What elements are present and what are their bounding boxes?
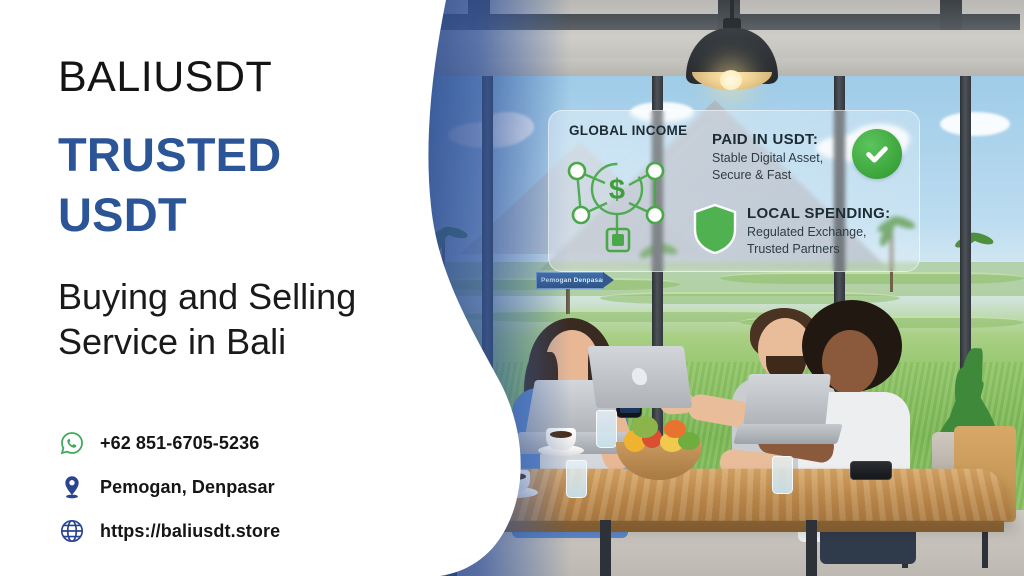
smartphone-on-table — [850, 461, 892, 480]
brand-name: BALIUSDT — [58, 55, 272, 100]
subheadline: Buying and Selling Service in Bali — [58, 274, 356, 365]
table-edge — [420, 520, 1004, 532]
headline: TRUSTED USDT — [58, 125, 281, 245]
local-spending-body: Regulated Exchange, Trusted Partners — [747, 224, 867, 257]
signpost-label: Pemogan Denpasar — [541, 277, 605, 284]
signpost: Pemogan Denpasar — [536, 272, 614, 292]
globe-icon — [58, 517, 86, 545]
svg-text:$: $ — [609, 174, 625, 206]
ceiling-beam — [468, 0, 490, 30]
subheadline-line-1: Buying and Selling — [58, 274, 356, 319]
left-text-column: BALIUSDT TRUSTED USDT Buying and Selling… — [58, 0, 458, 576]
shield-icon — [692, 203, 738, 255]
window-mullion — [482, 66, 493, 518]
lamp-bulb — [720, 70, 742, 90]
local-spending-title: LOCAL SPENDING: — [747, 205, 890, 222]
scene-illustration: Pemogan Denpasar — [420, 0, 1024, 576]
paid-in-usdt-title: PAID IN USDT: — [712, 131, 818, 148]
whatsapp-icon — [58, 429, 86, 457]
global-income-label: GLOBAL INCOME — [569, 123, 687, 138]
water-glass — [566, 460, 587, 498]
laptop-middle-keyboard — [733, 424, 843, 444]
signpost-plate: Pemogan Denpasar — [536, 272, 604, 289]
signpost-pole — [566, 288, 570, 314]
check-circle-icon — [852, 129, 902, 179]
glass-info-panel: GLOBAL INCOME — [548, 110, 920, 272]
location-pin-icon — [58, 473, 86, 501]
paid-in-usdt-body: Stable Digital Asset, Secure & Fast — [712, 150, 823, 183]
marketing-banner: Pemogan Denpasar — [0, 0, 1024, 576]
contact-row-whatsapp[interactable]: +62 851-6705-5236 — [58, 424, 438, 462]
contact-row-website[interactable]: https://baliusdt.store — [58, 512, 438, 550]
coffee-cup — [546, 428, 576, 450]
apple-logo — [631, 368, 648, 385]
water-glass — [596, 410, 617, 448]
signpost-arrow — [603, 272, 614, 288]
ceiling-beam — [940, 0, 962, 30]
website-url: https://baliusdt.store — [100, 521, 280, 542]
network-dollar-icon: $ — [555, 145, 679, 261]
whatsapp-number: +62 851-6705-5236 — [100, 433, 259, 454]
contact-row-location[interactable]: Pemogan, Denpasar — [58, 468, 438, 506]
water-glass — [772, 456, 793, 494]
headline-line-2: USDT — [58, 185, 281, 245]
headline-line-1: TRUSTED — [58, 125, 281, 185]
subheadline-line-2: Service in Bali — [58, 319, 356, 364]
laptop-right — [588, 346, 693, 408]
location-label: Pemogan, Denpasar — [100, 477, 275, 498]
laptop-middle — [743, 374, 831, 428]
coffee-cup — [500, 470, 530, 492]
contact-list: +62 851-6705-5236 Pemogan, Denpasar — [58, 424, 438, 556]
